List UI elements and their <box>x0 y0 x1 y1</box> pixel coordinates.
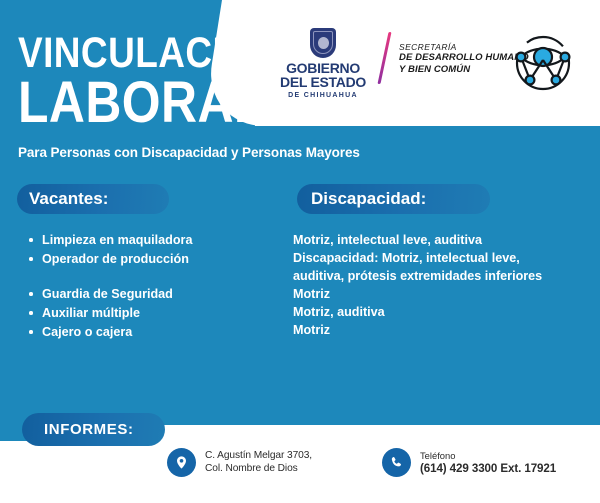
list-item: Discapacidad: Motriz, intelectual leve, <box>293 249 593 267</box>
list-item: Auxiliar múltiple <box>25 304 285 322</box>
vacantes-column: Limpieza en maquiladora Operador de prod… <box>25 231 285 342</box>
gobierno-del-estado-logo: GOBIERNO DEL ESTADO DE CHIHUAHUA <box>277 28 369 99</box>
discapacidad-pill: Discapacidad: <box>297 184 490 214</box>
phone-text: Teléfono (614) 429 3300 Ext. 17921 <box>420 450 556 475</box>
address-text: C. Agustín Melgar 3703, Col. Nombre de D… <box>205 450 312 475</box>
shield-icon <box>310 28 336 58</box>
poster-subtitle: Para Personas con Discapacidad y Persona… <box>18 145 360 160</box>
poster-canvas: VINCULACIÓN LABORAL Para Personas con Di… <box>0 0 600 503</box>
gov-logo-line-1: GOBIERNO <box>277 61 369 75</box>
list-item: Motriz <box>293 321 593 339</box>
list-item: Cajero o cajera <box>25 323 285 341</box>
list-item: auditiva, prótesis extremidades inferior… <box>293 267 593 285</box>
shield-emblem-icon <box>318 37 329 49</box>
list-item: Guardia de Seguridad <box>25 285 285 303</box>
contact-address: C. Agustín Melgar 3703, Col. Nombre de D… <box>167 448 312 477</box>
list-item: Operador de producción <box>25 250 285 268</box>
poster-title: VINCULACIÓN LABORAL <box>18 34 278 129</box>
phone-icon <box>382 448 411 477</box>
list-item: Motriz <box>293 285 593 303</box>
vacantes-list: Limpieza en maquiladora Operador de prod… <box>25 231 285 341</box>
phone-number: (614) 429 3300 Ext. 17921 <box>420 462 556 476</box>
phone-label: Teléfono <box>420 450 556 462</box>
contact-phone: Teléfono (614) 429 3300 Ext. 17921 <box>382 448 556 477</box>
gov-logo-line-3: DE CHIHUAHUA <box>277 92 369 99</box>
location-pin-icon <box>167 448 196 477</box>
list-item: Limpieza en maquiladora <box>25 231 285 249</box>
list-item: Motriz, intelectual leve, auditiva <box>293 231 593 249</box>
address-line-2: Col. Nombre de Dios <box>205 463 312 476</box>
discapacidad-list: Motriz, intelectual leve, auditiva Disca… <box>293 231 593 339</box>
list-item: Motriz, auditiva <box>293 303 593 321</box>
title-line-2: LABORAL <box>18 76 242 129</box>
discapacidad-column: Motriz, intelectual leve, auditiva Disca… <box>293 231 593 339</box>
title-line-1: VINCULACIÓN <box>18 34 242 74</box>
address-line-1: C. Agustín Melgar 3703, <box>205 450 312 463</box>
informes-pill: INFORMES: <box>22 413 165 446</box>
gov-logo-line-2: DEL ESTADO <box>277 75 369 89</box>
network-eye-icon <box>509 29 577 97</box>
vacantes-pill: Vacantes: <box>17 184 169 214</box>
